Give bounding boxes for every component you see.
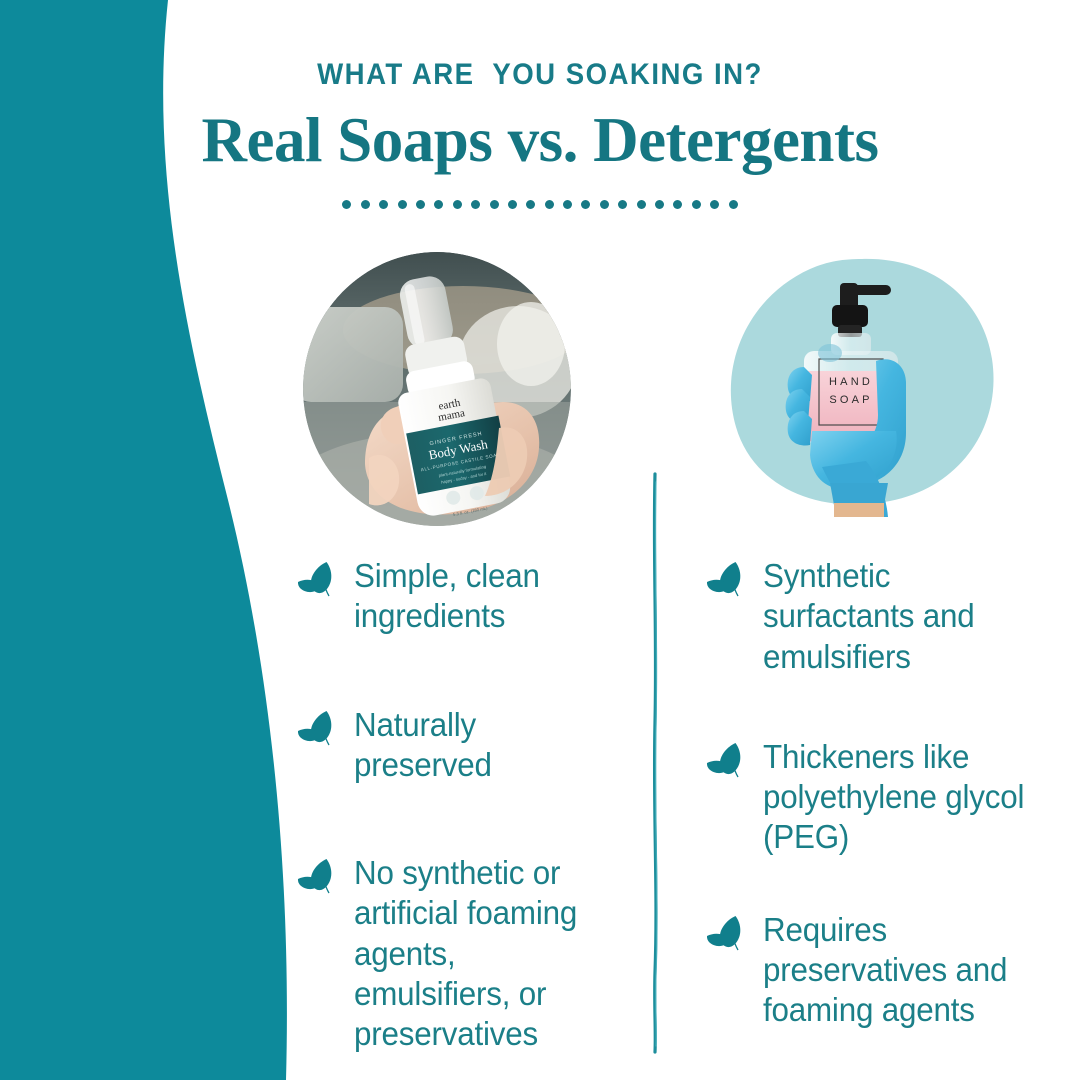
list-item: Thickeners like polyethylene glycol (PEG… (705, 737, 1065, 858)
vertical-divider (640, 472, 672, 1054)
divider-dot (655, 200, 664, 209)
divider-dot (379, 200, 388, 209)
divider-dot (434, 200, 443, 209)
leaf-sprig-icon (705, 560, 749, 602)
dotted-divider (0, 200, 1080, 209)
divider-dot (600, 200, 609, 209)
list-item-label: Requires preservatives and foaming agent… (763, 910, 1050, 1031)
photo-real-soap: earth mama GINGER FRESH Body Wash ALL-PU… (303, 252, 571, 526)
leaf-sprig-icon (296, 709, 340, 751)
divider-dot (526, 200, 535, 209)
divider-dot (692, 200, 701, 209)
list-item-label: Naturally preserved (354, 705, 612, 786)
page-title: Real Soaps vs. Detergents (0, 104, 1080, 177)
divider-dot (453, 200, 462, 209)
list-item: Simple, clean ingredients (296, 556, 626, 637)
infographic-canvas: WHAT ARE YOU SOAKING IN? Real Soaps vs. … (0, 0, 1080, 1080)
divider-dot (710, 200, 719, 209)
column-real-soaps: Simple, clean ingredients Naturally pres… (296, 556, 626, 1054)
list-item-label: Thickeners like polyethylene glycol (PEG… (763, 737, 1050, 858)
divider-dot (729, 200, 738, 209)
soap-label-line-2: SOAP (829, 394, 872, 406)
divider-dot (637, 200, 646, 209)
leaf-sprig-icon (705, 741, 749, 783)
divider-dot (361, 200, 370, 209)
photo-detergent: HAND SOAP (726, 255, 1000, 517)
leaf-sprig-icon (296, 560, 340, 602)
soap-label-line-1: HAND (829, 376, 873, 388)
divider-dot (618, 200, 627, 209)
list-item-label: Simple, clean ingredients (354, 556, 612, 637)
eyebrow-heading: WHAT ARE YOU SOAKING IN? (43, 58, 1037, 92)
list-item-label: Synthetic surfactants and emulsifiers (763, 556, 1050, 677)
divider-dot (673, 200, 682, 209)
column-detergents: Synthetic surfactants and emulsifiers Th… (705, 556, 1065, 1030)
list-item: No synthetic or artificial foaming agent… (296, 853, 626, 1054)
list-item: Naturally preserved (296, 705, 626, 786)
list-item: Requires preservatives and foaming agent… (705, 910, 1065, 1031)
leaf-sprig-icon (296, 857, 340, 899)
divider-dot (342, 200, 351, 209)
divider-dot (563, 200, 572, 209)
divider-dot (471, 200, 480, 209)
divider-dot (490, 200, 499, 209)
divider-dot (581, 200, 590, 209)
list-item-label: No synthetic or artificial foaming agent… (354, 853, 612, 1054)
divider-dot (508, 200, 517, 209)
divider-dot (545, 200, 554, 209)
divider-dot (398, 200, 407, 209)
list-item: Synthetic surfactants and emulsifiers (705, 556, 1065, 677)
divider-dot (416, 200, 425, 209)
leaf-sprig-icon (705, 914, 749, 956)
